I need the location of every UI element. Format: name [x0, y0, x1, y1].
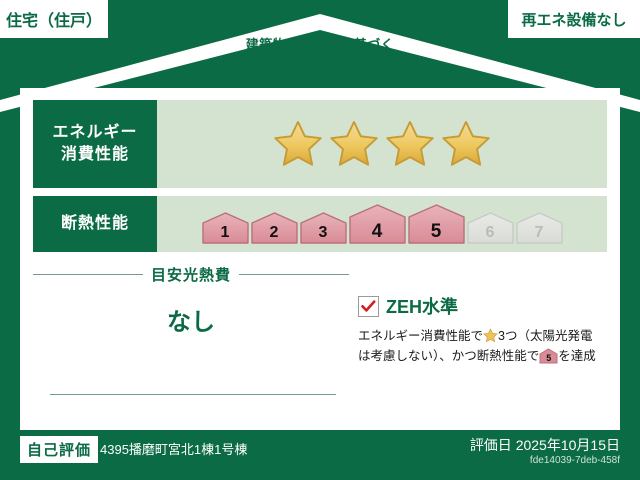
utility-cost-value: なし [33, 302, 349, 337]
zeh-desc-stars: 3つ（太陽光発電 [498, 329, 592, 343]
insulation-badge-inline: 5 [539, 348, 558, 364]
utility-cost-divider [50, 394, 336, 395]
zeh-description: エネルギー消費性能で 3つ（太陽光発電 は考慮しない）、かつ断熱性能で 5 を達… [358, 326, 608, 367]
renewable-equipment-tag: 再エネ設備なし [508, 0, 640, 38]
building-type-tag-label: 住宅（住戸） [6, 7, 102, 31]
zeh-checkbox[interactable] [358, 296, 379, 317]
zeh-title: ZEH水準 [386, 298, 458, 316]
insulation-level-badge-1: 1 [202, 212, 249, 244]
insulation-performance-label-box: 断熱性能 [33, 196, 157, 252]
insulation-level-badge-3: 3 [300, 212, 347, 244]
self-evaluation-badge: 自己評価 [20, 436, 98, 463]
insulation-label: 断熱性能 [61, 213, 129, 235]
label-footer: 自己評価 4395播磨町宮北1棟1号棟 評価日 2025年10月15日 fde1… [0, 430, 640, 480]
evaluation-id: fde14039-7deb-458f [530, 455, 620, 466]
utility-cost-heading: 目安光熱費 [33, 264, 349, 285]
insulation-level-value: 1 [221, 225, 230, 241]
energy-performance-label: 住宅（住戸） 再エネ設備なし 建築物省エネ法に基づく 省エネ性能ラベル エネルギ… [0, 0, 640, 480]
insulation-level-value: 6 [486, 225, 495, 241]
insulation-level-badge-4: 4 [349, 204, 406, 244]
heading-rule-right [239, 274, 349, 275]
insulation-level-value: 5 [431, 222, 442, 241]
insulation-level-value: 4 [372, 222, 383, 241]
label-card: エネルギー 消費性能 断熱性能 1234567 目安光熱費 なし [20, 88, 620, 430]
energy-performance-row: エネルギー 消費性能 [33, 100, 607, 188]
renewable-equipment-tag-label: 再エネ設備なし [521, 9, 626, 30]
zeh-heading: ZEH水準 [358, 296, 608, 317]
star-icon [385, 119, 435, 169]
page-title: 建築物省エネ法に基づく 省エネ性能ラベル [0, 38, 640, 83]
insulation-performance-row: 断熱性能 1234567 [33, 196, 607, 252]
utility-cost-heading-label: 目安光熱費 [151, 264, 231, 285]
zeh-desc-part2: は考慮しない）、かつ断熱性能で [358, 349, 539, 363]
insulation-level-badge-6: 6 [467, 212, 514, 244]
zeh-desc-part1: エネルギー消費性能で [358, 329, 483, 343]
energy-label-line2: 消費性能 [61, 144, 129, 166]
energy-label-line1: エネルギー [52, 122, 137, 144]
building-type-tag: 住宅（住戸） [0, 0, 108, 38]
star-icon [329, 119, 379, 169]
heading-rule-left [33, 274, 143, 275]
star-icon [273, 119, 323, 169]
insulation-level-value: 2 [270, 225, 279, 241]
title-main: 省エネ性能ラベル [0, 57, 640, 83]
energy-performance-label-box: エネルギー 消費性能 [33, 100, 157, 188]
insulation-level-value: 7 [535, 225, 544, 241]
insulation-level-value: 3 [319, 225, 328, 241]
insulation-level-badge-5: 5 [408, 204, 465, 244]
insulation-level-scale: 1234567 [202, 204, 563, 244]
insulation-badge-inline-value: 5 [539, 354, 558, 363]
star-icon [483, 328, 498, 343]
check-icon [361, 300, 376, 313]
zeh-desc-part3: を達成 [558, 349, 596, 363]
property-address: 4395播磨町宮北1棟1号棟 [100, 439, 247, 458]
title-subtitle: 建築物省エネ法に基づく [0, 38, 640, 51]
evaluation-date: 評価日 2025年10月15日 [470, 435, 620, 455]
insulation-level-badge-2: 2 [251, 212, 298, 244]
star-icon [441, 119, 491, 169]
zeh-section: ZEH水準 エネルギー消費性能で 3つ（太陽光発電 は考慮しない）、かつ断熱性能… [358, 296, 608, 367]
star-rating [273, 119, 491, 169]
energy-performance-value [157, 100, 607, 188]
insulation-level-badge-7: 7 [516, 212, 563, 244]
insulation-performance-value: 1234567 [157, 196, 607, 252]
